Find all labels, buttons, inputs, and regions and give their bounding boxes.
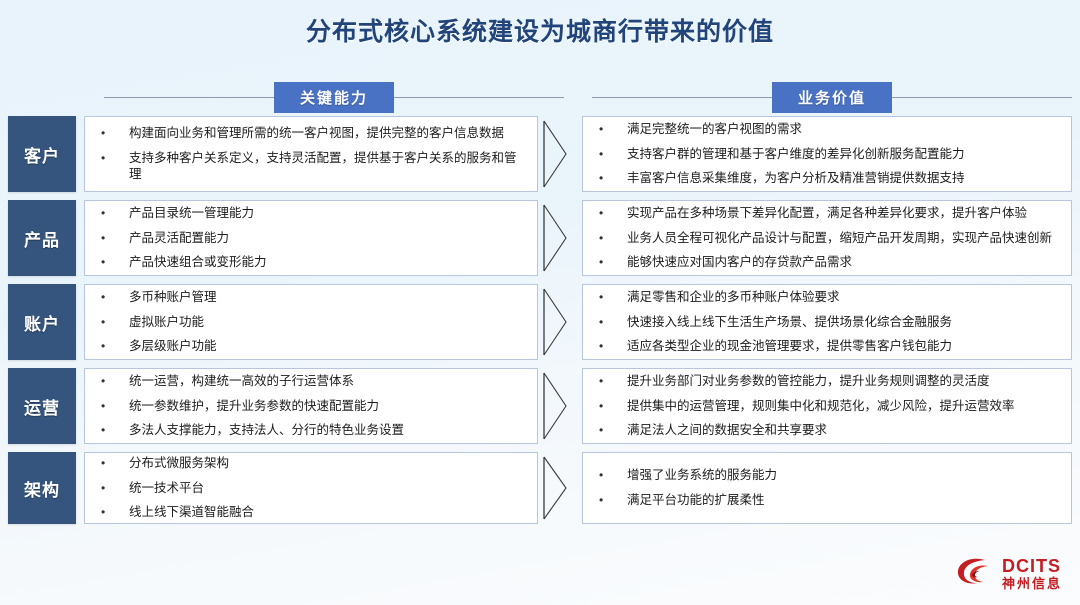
row-label-5[interactable]: 架构 <box>8 452 76 524</box>
bullet-dot-icon: • <box>101 150 129 166</box>
bullet-text: 构建面向业务和管理所需的统一客户视图，提供完整的客户信息数据 <box>129 125 525 142</box>
bullet-text: 提升业务部门对业务参数的管控能力，提升业务规则调整的灵活度 <box>627 373 1059 390</box>
capability-panel: •统一运营，构建统一高效的子行运营体系•统一参数维护，提升业务参数的快速配置能力… <box>84 368 538 444</box>
bullet-item: •分布式微服务架构 <box>101 451 525 476</box>
row-label-3[interactable]: 账户 <box>8 284 76 360</box>
bullet-dot-icon: • <box>101 422 129 438</box>
bullet-text: 线上线下渠道智能融合 <box>129 504 525 521</box>
chevron-right-icon <box>538 200 572 276</box>
bullet-text: 产品快速组合或变形能力 <box>129 254 525 271</box>
bullet-dot-icon: • <box>101 455 129 471</box>
bullet-dot-icon: • <box>101 289 129 305</box>
capability-panel: •构建面向业务和管理所需的统一客户视图，提供完整的客户信息数据•支持多种客户关系… <box>84 116 538 192</box>
bullet-text: 多法人支撑能力，支持法人、分行的特色业务设置 <box>129 422 525 439</box>
column-header-key-capability: 关键能力 <box>104 80 564 114</box>
bullet-text: 分布式微服务架构 <box>129 455 525 472</box>
value-panel: •实现产品在多种场景下差异化配置，满足各种差异化要求，提升客户体验•业务人员全程… <box>582 200 1072 276</box>
chevron-right-icon <box>538 368 572 444</box>
bullet-item: •统一技术平台 <box>101 476 525 501</box>
chevron-right-icon <box>538 284 572 360</box>
bullet-dot-icon: • <box>101 205 129 221</box>
bullet-dot-icon: • <box>101 338 129 354</box>
value-panel: •增强了业务系统的服务能力•满足平台功能的扩展柔性 <box>582 452 1072 524</box>
bullet-item: •增强了业务系统的服务能力 <box>599 463 1059 488</box>
bullet-dot-icon: • <box>599 170 627 186</box>
logo-name-cn: 神州信息 <box>1002 577 1062 590</box>
company-logo: DCITS 神州信息 <box>955 554 1062 593</box>
bullet-dot-icon: • <box>599 314 627 330</box>
bullet-item: •提供集中的运营管理，规则集中化和规范化，减少风险，提升运营效率 <box>599 394 1059 419</box>
header-rule-left <box>104 97 274 98</box>
capability-row: 账户•多币种账户管理•虚拟账户功能•多层级账户功能•满足零售和企业的多币种账户体… <box>0 284 1080 360</box>
header-rule-left <box>592 97 772 98</box>
capability-panel: •分布式微服务架构•统一技术平台•线上线下渠道智能融合 <box>84 452 538 524</box>
bullet-item: •多法人支撑能力，支持法人、分行的特色业务设置 <box>101 418 525 443</box>
bullet-text: 满足完整统一的客户视图的需求 <box>627 121 1059 138</box>
bullet-text: 能够快速应对国内客户的存贷款产品需求 <box>627 254 1059 271</box>
bullet-dot-icon: • <box>101 125 129 141</box>
row-label-2[interactable]: 产品 <box>8 200 76 276</box>
bullet-text: 多层级账户功能 <box>129 338 525 355</box>
row-label-4[interactable]: 运营 <box>8 368 76 444</box>
value-panel: •满足完整统一的客户视图的需求•支持客户群的管理和基于客户维度的差异化创新服务配… <box>582 116 1072 192</box>
bullet-item: •产品快速组合或变形能力 <box>101 250 525 275</box>
bullet-text: 满足法人之间的数据安全和共享要求 <box>627 422 1059 439</box>
badge-business-value[interactable]: 业务价值 <box>772 82 892 113</box>
bullet-dot-icon: • <box>599 422 627 438</box>
header-rule-right <box>394 97 564 98</box>
bullet-item: •产品灵活配置能力 <box>101 226 525 251</box>
capability-row: 产品•产品目录统一管理能力•产品灵活配置能力•产品快速组合或变形能力•实现产品在… <box>0 200 1080 276</box>
capability-panel: •多币种账户管理•虚拟账户功能•多层级账户功能 <box>84 284 538 360</box>
bullet-text: 产品灵活配置能力 <box>129 230 525 247</box>
bullet-dot-icon: • <box>101 504 129 520</box>
header-rule-right <box>892 97 1072 98</box>
bullet-text: 产品目录统一管理能力 <box>129 205 525 222</box>
bullet-item: •多层级账户功能 <box>101 334 525 359</box>
column-header-business-value: 业务价值 <box>592 80 1072 114</box>
bullet-text: 增强了业务系统的服务能力 <box>627 467 1059 484</box>
value-panel: •满足零售和企业的多币种账户体验要求•快速接入线上线下生活生产场景、提供场景化综… <box>582 284 1072 360</box>
bullet-item: •丰富客户信息采集维度，为客户分析及精准营销提供数据支持 <box>599 166 1059 191</box>
chevron-right-icon <box>538 116 572 192</box>
bullet-text: 支持多种客户关系定义，支持灵活配置，提供基于客户关系的服务和管理 <box>129 150 525 184</box>
bullet-dot-icon: • <box>101 254 129 270</box>
bullet-dot-icon: • <box>599 467 627 483</box>
bullet-item: •满足平台功能的扩展柔性 <box>599 488 1059 513</box>
bullet-text: 提供集中的运营管理，规则集中化和规范化，减少风险，提升运营效率 <box>627 398 1059 415</box>
dcits-swoosh-icon <box>955 554 995 593</box>
bullet-text: 丰富客户信息采集维度，为客户分析及精准营销提供数据支持 <box>627 170 1059 187</box>
capability-row: 客户•构建面向业务和管理所需的统一客户视图，提供完整的客户信息数据•支持多种客户… <box>0 116 1080 192</box>
bullet-text: 业务人员全程可视化产品设计与配置，缩短产品开发周期，实现产品快速创新 <box>627 230 1059 247</box>
bullet-item: •适应各类型企业的现金池管理要求，提供零售客户钱包能力 <box>599 334 1059 359</box>
capability-row: 运营•统一运营，构建统一高效的子行运营体系•统一参数维护，提升业务参数的快速配置… <box>0 368 1080 444</box>
bullet-dot-icon: • <box>599 289 627 305</box>
bullet-item: •实现产品在多种场景下差异化配置，满足各种差异化要求，提升客户体验 <box>599 201 1059 226</box>
bullet-text: 适应各类型企业的现金池管理要求，提供零售客户钱包能力 <box>627 338 1059 355</box>
bullet-item: •构建面向业务和管理所需的统一客户视图，提供完整的客户信息数据 <box>101 121 525 146</box>
bullet-text: 支持客户群的管理和基于客户维度的差异化创新服务配置能力 <box>627 146 1059 163</box>
bullet-text: 快速接入线上线下生活生产场景、提供场景化综合金融服务 <box>627 314 1059 331</box>
capability-panel: •产品目录统一管理能力•产品灵活配置能力•产品快速组合或变形能力 <box>84 200 538 276</box>
bullet-item: •支持多种客户关系定义，支持灵活配置，提供基于客户关系的服务和管理 <box>101 146 525 188</box>
bullet-item: •线上线下渠道智能融合 <box>101 500 525 525</box>
bullet-item: •虚拟账户功能 <box>101 310 525 335</box>
bullet-dot-icon: • <box>599 121 627 137</box>
bullet-dot-icon: • <box>101 373 129 389</box>
bullet-item: •统一运营，构建统一高效的子行运营体系 <box>101 369 525 394</box>
bullet-item: •满足完整统一的客户视图的需求 <box>599 117 1059 142</box>
bullet-item: •业务人员全程可视化产品设计与配置，缩短产品开发周期，实现产品快速创新 <box>599 226 1059 251</box>
bullet-dot-icon: • <box>599 146 627 162</box>
bullet-text: 多币种账户管理 <box>129 289 525 306</box>
bullet-dot-icon: • <box>599 230 627 246</box>
bullet-text: 虚拟账户功能 <box>129 314 525 331</box>
rows-container: 客户•构建面向业务和管理所需的统一客户视图，提供完整的客户信息数据•支持多种客户… <box>0 116 1080 532</box>
bullet-text: 满足平台功能的扩展柔性 <box>627 492 1059 509</box>
bullet-item: •满足零售和企业的多币种账户体验要求 <box>599 285 1059 310</box>
bullet-dot-icon: • <box>599 338 627 354</box>
bullet-text: 统一技术平台 <box>129 480 525 497</box>
bullet-item: •产品目录统一管理能力 <box>101 201 525 226</box>
bullet-dot-icon: • <box>599 492 627 508</box>
logo-text: DCITS 神州信息 <box>1002 557 1062 590</box>
bullet-item: •提升业务部门对业务参数的管控能力，提升业务规则调整的灵活度 <box>599 369 1059 394</box>
bullet-item: •支持客户群的管理和基于客户维度的差异化创新服务配置能力 <box>599 142 1059 167</box>
bullet-text: 实现产品在多种场景下差异化配置，满足各种差异化要求，提升客户体验 <box>627 205 1059 222</box>
bullet-dot-icon: • <box>599 398 627 414</box>
chevron-right-icon <box>538 452 572 524</box>
bullet-dot-icon: • <box>101 398 129 414</box>
bullet-dot-icon: • <box>599 205 627 221</box>
bullet-text: 满足零售和企业的多币种账户体验要求 <box>627 289 1059 306</box>
bullet-dot-icon: • <box>599 254 627 270</box>
logo-name-en: DCITS <box>1002 557 1062 575</box>
bullet-item: •满足法人之间的数据安全和共享要求 <box>599 418 1059 443</box>
row-label-1[interactable]: 客户 <box>8 116 76 192</box>
bullet-item: •能够快速应对国内客户的存贷款产品需求 <box>599 250 1059 275</box>
bullet-dot-icon: • <box>101 230 129 246</box>
bullet-dot-icon: • <box>101 480 129 496</box>
value-panel: •提升业务部门对业务参数的管控能力，提升业务规则调整的灵活度•提供集中的运营管理… <box>582 368 1072 444</box>
bullet-text: 统一运营，构建统一高效的子行运营体系 <box>129 373 525 390</box>
bullet-dot-icon: • <box>101 314 129 330</box>
bullet-item: •多币种账户管理 <box>101 285 525 310</box>
badge-key-capability[interactable]: 关键能力 <box>274 82 394 113</box>
bullet-item: •快速接入线上线下生活生产场景、提供场景化综合金融服务 <box>599 310 1059 335</box>
capability-row: 架构•分布式微服务架构•统一技术平台•线上线下渠道智能融合•增强了业务系统的服务… <box>0 452 1080 524</box>
bullet-item: •统一参数维护，提升业务参数的快速配置能力 <box>101 394 525 419</box>
page-title: 分布式核心系统建设为城商行带来的价值 <box>0 12 1080 48</box>
bullet-text: 统一参数维护，提升业务参数的快速配置能力 <box>129 398 525 415</box>
bullet-dot-icon: • <box>599 373 627 389</box>
